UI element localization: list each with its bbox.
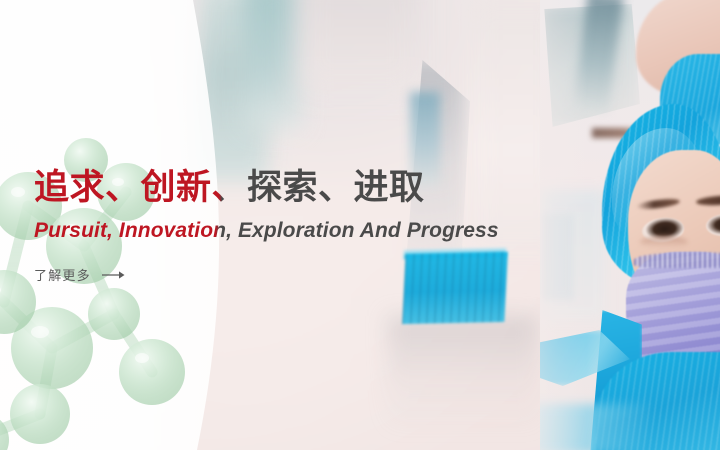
- hero-copy: 追求、创新、探索、进取 Pursuit, Innovation, Explora…: [34, 168, 594, 285]
- arrow-right-icon: [102, 270, 126, 280]
- learn-more-label: 了解更多: [34, 265, 91, 284]
- learn-more-button[interactable]: 了解更多: [34, 265, 126, 284]
- page-subtitle: Pursuit, Innovation, Exploration And Pro…: [34, 218, 594, 243]
- shelf-shadow: [388, 316, 538, 432]
- page-title: 追求、创新、探索、进取: [34, 168, 594, 208]
- lab-equipment-blur-c: [300, 0, 420, 90]
- lab-equipment-blur-b: [244, 0, 302, 130]
- hero-banner: 追求、创新、探索、进取 Pursuit, Innovation, Explora…: [0, 0, 720, 450]
